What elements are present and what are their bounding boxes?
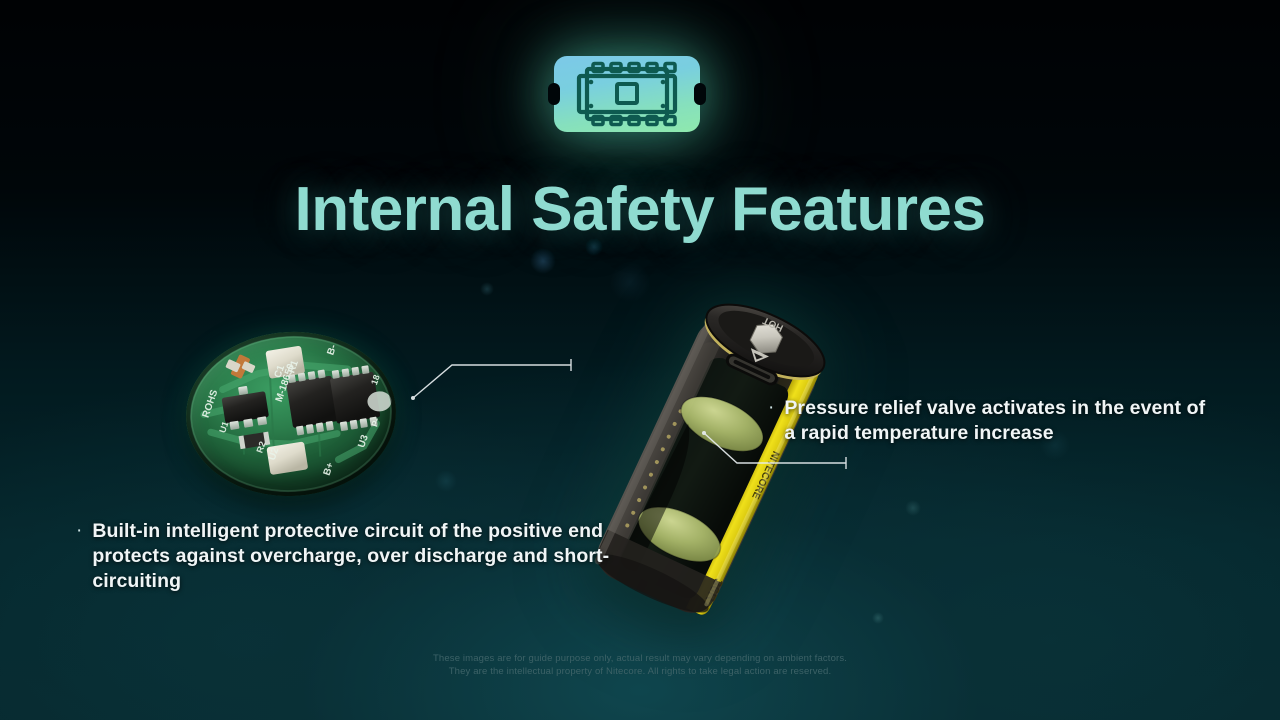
pcb-protection-board: ROHS U1 C1 R1 M-18650 U2 R2 U3 B- B+ P- …	[182, 327, 400, 502]
leader-endpoint-left	[411, 396, 415, 400]
callout-text: Pressure relief valve activates in the e…	[784, 396, 1218, 446]
page-title: Internal Safety Features	[0, 174, 1280, 245]
callout-bullet: ·	[768, 395, 774, 420]
callout-pressure-relief-valve: · Pressure relief valve activates in the…	[768, 396, 1218, 446]
callout-bullet: ·	[76, 518, 82, 543]
bokeh-particle	[530, 248, 556, 274]
slide-canvas: Internal Safety Features	[0, 0, 1280, 720]
bokeh-particle	[435, 470, 457, 492]
svg-text:B+: B+	[322, 461, 337, 477]
integrated-circuit-chip-icon	[554, 56, 700, 132]
svg-text:P-: P-	[369, 416, 381, 428]
bokeh-particle	[872, 612, 884, 624]
bokeh-particle	[480, 282, 494, 296]
footer-line-1: These images are for guide purpose only,…	[0, 653, 1280, 666]
footer-line-2: They are the intellectual property of Ni…	[0, 666, 1280, 679]
callout-protective-circuit: · Built-in intelligent protective circui…	[76, 519, 636, 594]
footer-disclaimer: These images are for guide purpose only,…	[0, 653, 1280, 678]
callout-text: Built-in intelligent protective circuit …	[92, 519, 636, 594]
bokeh-particle	[905, 500, 921, 516]
